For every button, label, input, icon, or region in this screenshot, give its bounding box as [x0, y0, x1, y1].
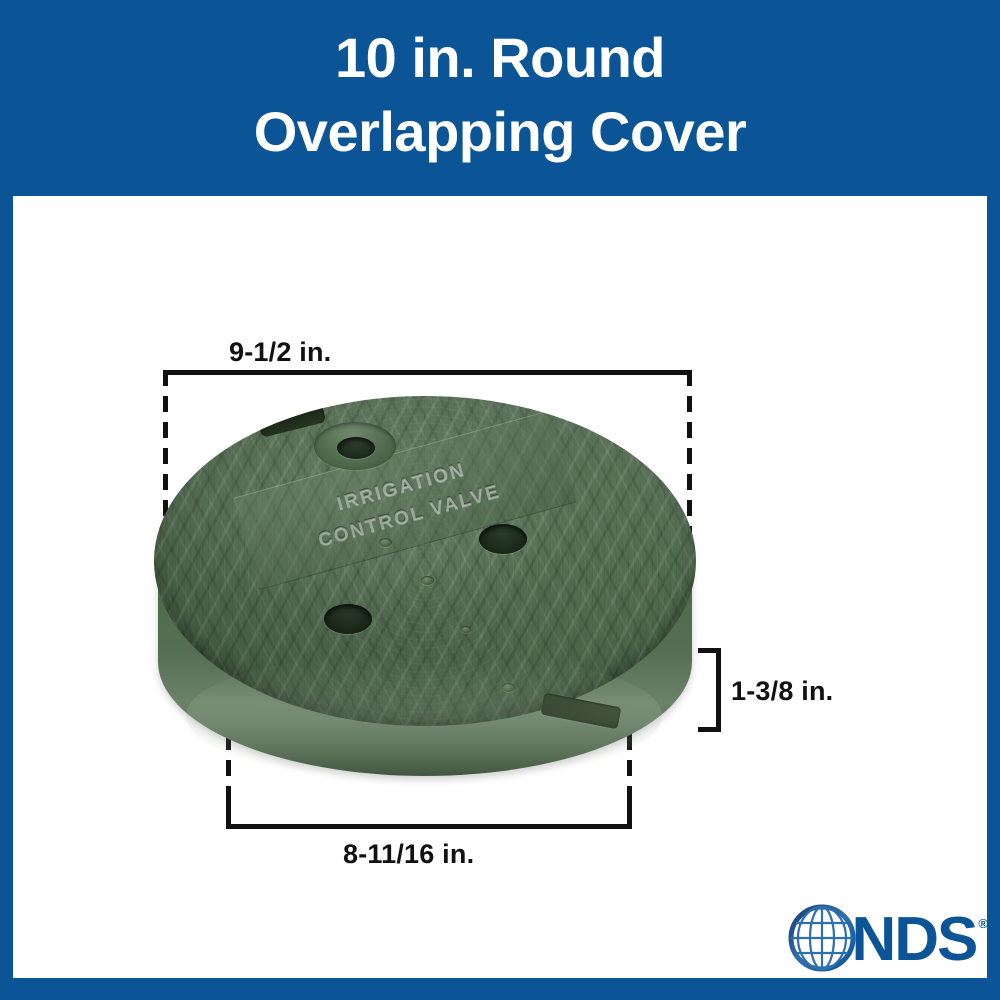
product-spec-image: 10 in. Round Overlapping Cover 9-1/2 in.…: [0, 0, 1000, 1000]
header-banner: 10 in. Round Overlapping Cover: [0, 0, 1000, 196]
cover-top-face: IRRIGATION CONTROL VALVE: [154, 396, 696, 726]
dimension-tick-height-bottom: [698, 727, 721, 732]
dimension-label-bottom-width: 8-11/16 in.: [343, 839, 474, 870]
dimension-line-top-width: [163, 370, 692, 375]
registered-trademark-symbol: ®: [978, 916, 988, 931]
dimension-line-height: [716, 648, 721, 732]
nds-wordmark: NDS: [852, 909, 977, 971]
page-title-line-1: 10 in. Round: [335, 21, 665, 95]
product-stage: 9-1/2 in. 1-3/8 in. 8-11/16 in.: [13, 196, 987, 978]
dimension-label-top-width: 9-1/2 in.: [229, 337, 331, 368]
dimension-label-height: 1-3/8 in.: [731, 676, 833, 707]
cover-curvature-shading: [154, 396, 696, 726]
globe-icon: [786, 902, 858, 979]
footer-band: [0, 978, 1000, 1000]
page-title-line-2: Overlapping Cover: [254, 95, 747, 169]
product-image-valve-cover: IRRIGATION CONTROL VALVE: [150, 388, 700, 808]
dimension-line-bottom-width: [226, 824, 632, 829]
dimension-tick-height-top: [698, 648, 721, 653]
product-canvas: 9-1/2 in. 1-3/8 in. 8-11/16 in.: [13, 196, 987, 978]
nds-logo: NDS ®: [748, 902, 988, 978]
